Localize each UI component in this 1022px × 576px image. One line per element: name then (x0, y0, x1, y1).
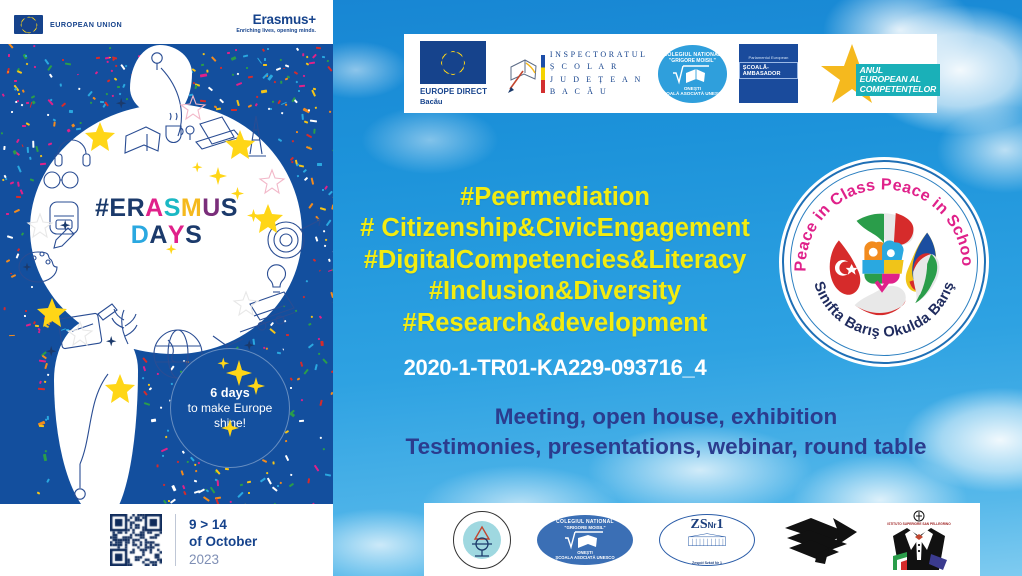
building-icon (676, 533, 738, 547)
italian-emblem-icon (911, 510, 927, 522)
hashtag-item: #DigitalCompetencies&Literacy (330, 245, 780, 276)
wordmark-letter: U (202, 196, 221, 221)
logo-zs-nr-1: ZSNr1 Zespół Szkół Nr 1 (659, 514, 755, 566)
hashtag-item: #Peermediation (330, 182, 780, 213)
wordmark-line-1: #ERASMUS (0, 196, 333, 221)
poster-footer: 9 > 14 of October 2023 (0, 504, 333, 576)
logo-istituto-superiore-san-pellegrino: ISTITUTO SUPERIORE SAN PELLEGRINO (887, 510, 951, 570)
logo-colegiul-national-grigore-moisil: COLEGIUL NATIONAL "GRIGORE MOISIL" ONEȘT… (658, 45, 728, 103)
wordmark-letter: A (145, 196, 164, 221)
arrow-chevron-icon (781, 514, 861, 566)
peace-in-class-logo: Peace in Class Peace in School Sınıfta B… (782, 160, 986, 364)
hashtag-item: # Citizenship&CivicEngagement (330, 213, 780, 244)
wordmark-letter: # (95, 196, 109, 221)
cn-unesco: ȘCOALA ASOCIATĂ UNESCO (555, 555, 614, 560)
logo-scoala-ambasador: Parlamentul European ȘCOALĂ-AMBASADOR (739, 44, 797, 103)
logo-kirkkonaklar-anadolu-lisesi (453, 511, 511, 569)
wordmark-line-2: DAYS (0, 223, 333, 248)
eu-flag-icon (14, 15, 43, 34)
event-date-block: 9 > 14 of October 2023 (189, 514, 257, 568)
seal-icon (453, 511, 511, 569)
divider (175, 514, 176, 566)
logo-arrow-school (781, 514, 861, 566)
zs-title: ZSNr1 (690, 515, 723, 533)
anul-label: ANUL EUROPEAN AL COMPETENȚELOR (856, 64, 941, 97)
poster-canvas: EUROPEAN UNION Erasmus+ Enriching lives,… (0, 0, 1022, 576)
wordmark-letter: S (221, 196, 238, 221)
erasmus-days-poster: EUROPEAN UNION Erasmus+ Enriching lives,… (0, 0, 333, 576)
ambasador-label: ȘCOALĂ-AMBASADOR (739, 62, 797, 79)
flag-italy (857, 213, 914, 245)
puzzle-people-icon (862, 240, 903, 289)
isj-text: INSPECTORATUL Ș C O L A R J U D E Ț E A … (550, 49, 648, 99)
wordmark-letter: Y (168, 223, 185, 248)
peace-logo-graphics: Peace in Class Peace in School Sınıfta B… (784, 162, 984, 362)
partner-logo-bar-top: EUROPE DIRECT Bacău INSPECTORATUL Ș C O … (404, 34, 937, 113)
wordmark-letter: S (185, 223, 202, 248)
erasmus-plus-logo: Erasmus+ Enriching lives, opening minds. (236, 13, 316, 34)
wordmark-letter: S (164, 196, 181, 221)
partner-logo-bar-bottom: COLEGIUL NATIONAL "GRIGORE MOISIL" ONEȘT… (424, 503, 980, 576)
europe-direct-title: EUROPE DIRECT (420, 87, 487, 96)
eu-label: EUROPEAN UNION (50, 20, 122, 29)
romanian-flag-bar-icon (541, 55, 545, 93)
date-range: 9 > 14 (189, 516, 257, 533)
europe-direct-subtitle: Bacău (420, 97, 443, 106)
hashtag-item: #Research&development (330, 308, 780, 339)
logo-inspectoratul-scolar-judetean-bacau: INSPECTORATUL Ș C O L A R J U D E Ț E A … (505, 49, 647, 99)
activity-line: Meeting, open house, exhibition (316, 402, 1016, 432)
wordmark-letter: A (149, 223, 168, 248)
flag-bulgaria (913, 253, 939, 303)
activities-list: Meeting, open house, exhibition Testimon… (316, 402, 1016, 461)
book-quill-icon (505, 53, 539, 95)
book-sqrt-icon (564, 530, 606, 550)
poster-header: EUROPEAN UNION Erasmus+ Enriching lives,… (0, 0, 333, 44)
tuxedo-icon (889, 526, 949, 570)
badge-sparkles (170, 348, 290, 468)
logo-colegiul-national-grigore-moisil-onesti: COLEGIUL NATIONAL "GRIGORE MOISIL" ONEȘT… (537, 515, 633, 565)
activity-line: Testimonies, presentations, webinar, rou… (316, 432, 1016, 462)
wordmark-letter: E (109, 196, 126, 221)
date-year: 2023 (189, 551, 257, 568)
parlament-label: Parlamentul European (749, 55, 789, 60)
book-sqrt-icon (672, 64, 712, 86)
eu-flag-icon (420, 41, 486, 84)
flag-poland (855, 286, 906, 315)
erasmus-days-wordmark: #ERASMUS DAYS (0, 196, 333, 248)
project-code: 2020-1-TR01-KA229-093716_4 (330, 355, 780, 381)
erasmus-tagline: Enriching lives, opening minds. (236, 28, 316, 34)
qr-code[interactable] (110, 514, 162, 566)
flag-turkey (830, 240, 861, 294)
cng-bottom: ȘCOALĂ ASOCIATĂ UNESCO (660, 91, 725, 96)
date-month: of October (189, 533, 257, 550)
wordmark-letter: D (131, 223, 150, 248)
hashtag-list: #Peermediation # Citizenship&CivicEngage… (330, 182, 780, 339)
logo-europe-direct-bacau: EUROPE DIRECT Bacău (420, 41, 499, 106)
eu-stars-icon (21, 17, 36, 32)
hashtag-item: #Inclusion&Diversity (330, 276, 780, 307)
wordmark-letter: R (127, 196, 146, 221)
erasmus-brand: Erasmus+ (236, 13, 316, 27)
logo-anul-european-al-competentelor: ANUL EUROPEAN AL COMPETENȚELOR (818, 42, 927, 106)
zs-subtitle: Zespół Szkół Nr 1 (692, 561, 722, 565)
eu-stars-icon (442, 52, 464, 74)
wordmark-letter: M (181, 196, 202, 221)
